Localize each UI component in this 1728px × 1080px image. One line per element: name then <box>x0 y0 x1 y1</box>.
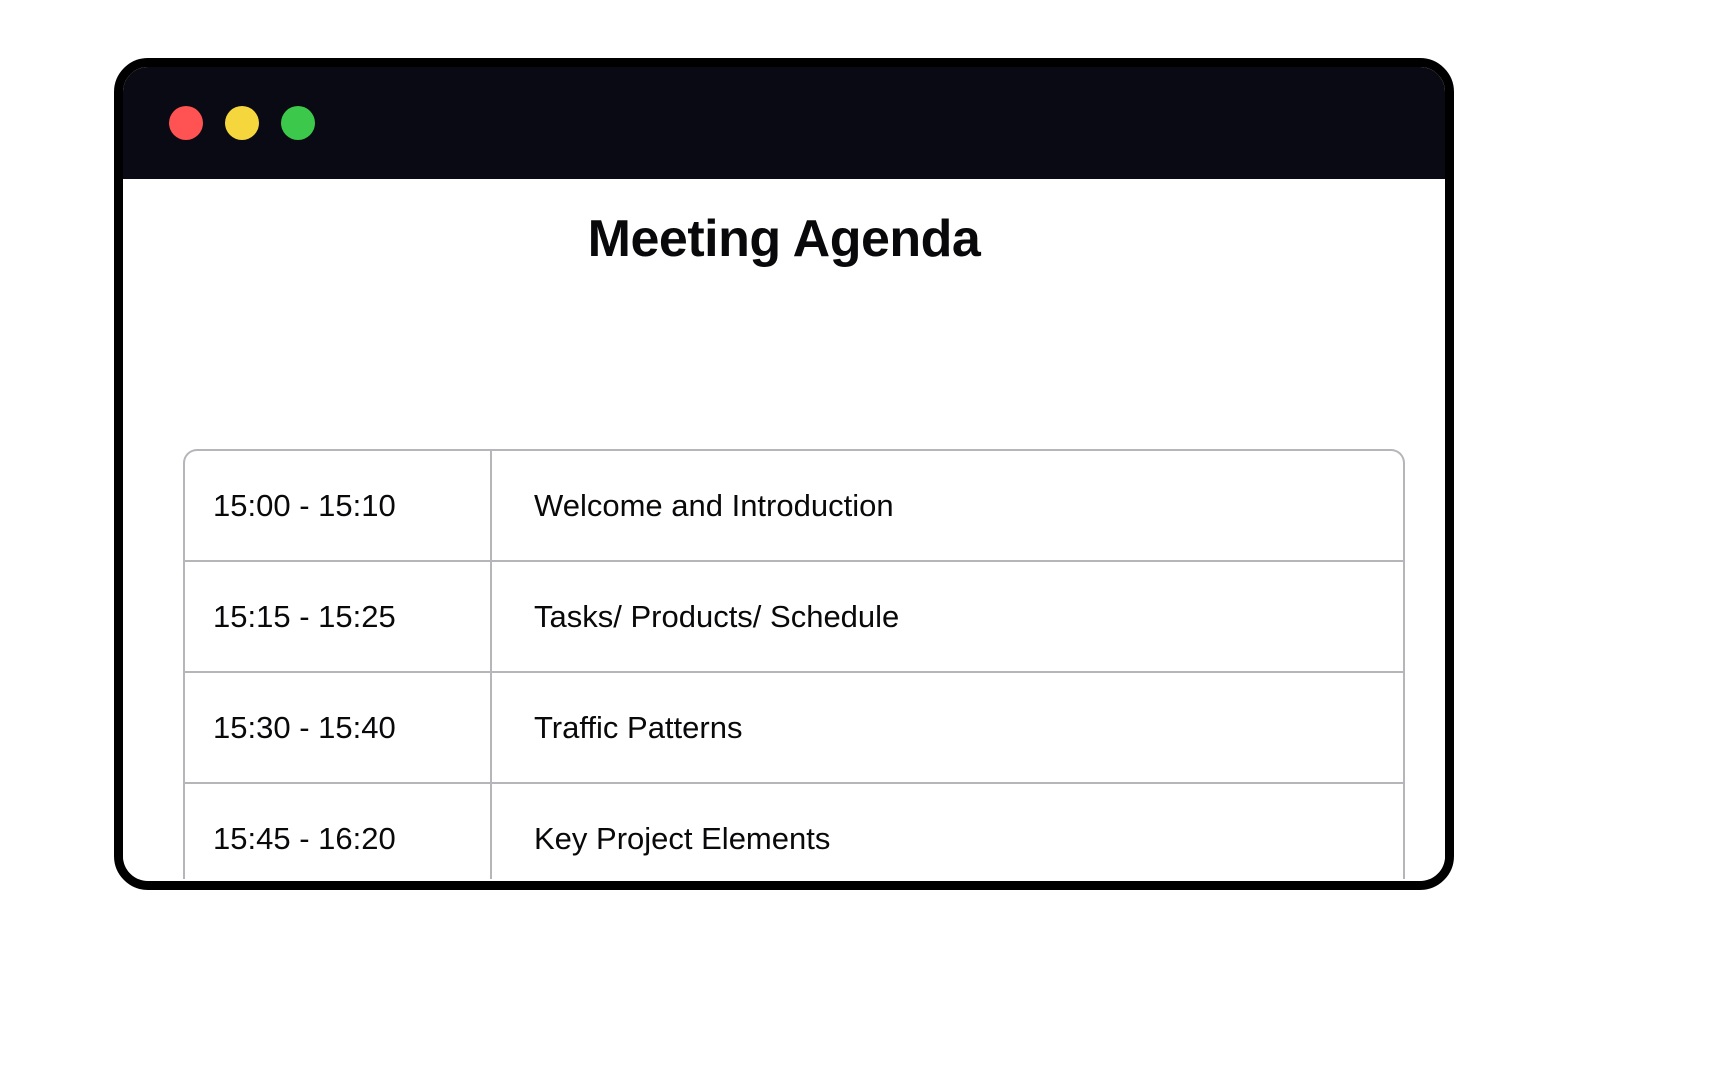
maximize-button-icon[interactable] <box>281 106 315 140</box>
minimize-button-icon[interactable] <box>225 106 259 140</box>
screen-canvas: Meeting Agenda 15:00 - 15:10 Welcome and… <box>0 0 1728 1080</box>
page-title: Meeting Agenda <box>123 209 1445 269</box>
agenda-table: 15:00 - 15:10 Welcome and Introduction 1… <box>183 449 1405 879</box>
agenda-topic-cell: Key Project Elements <box>490 782 1405 879</box>
agenda-table-body: 15:00 - 15:10 Welcome and Introduction 1… <box>183 449 1405 879</box>
app-window: Meeting Agenda 15:00 - 15:10 Welcome and… <box>114 58 1454 890</box>
agenda-table-container: 15:00 - 15:10 Welcome and Introduction 1… <box>183 449 1405 879</box>
agenda-time-cell: 15:00 - 15:10 <box>183 449 490 560</box>
table-row[interactable]: 15:00 - 15:10 Welcome and Introduction <box>183 449 1405 560</box>
table-row[interactable]: 15:45 - 16:20 Key Project Elements <box>183 782 1405 879</box>
agenda-time-cell: 15:45 - 16:20 <box>183 782 490 879</box>
table-row[interactable]: 15:15 - 15:25 Tasks/ Products/ Schedule <box>183 560 1405 671</box>
window-titlebar[interactable] <box>123 67 1445 179</box>
agenda-topic-cell: Tasks/ Products/ Schedule <box>490 560 1405 671</box>
window-content: Meeting Agenda 15:00 - 15:10 Welcome and… <box>123 179 1445 879</box>
table-row[interactable]: 15:30 - 15:40 Traffic Patterns <box>183 671 1405 782</box>
agenda-time-cell: 15:15 - 15:25 <box>183 560 490 671</box>
agenda-topic-cell: Welcome and Introduction <box>490 449 1405 560</box>
close-button-icon[interactable] <box>169 106 203 140</box>
agenda-time-cell: 15:30 - 15:40 <box>183 671 490 782</box>
agenda-topic-cell: Traffic Patterns <box>490 671 1405 782</box>
